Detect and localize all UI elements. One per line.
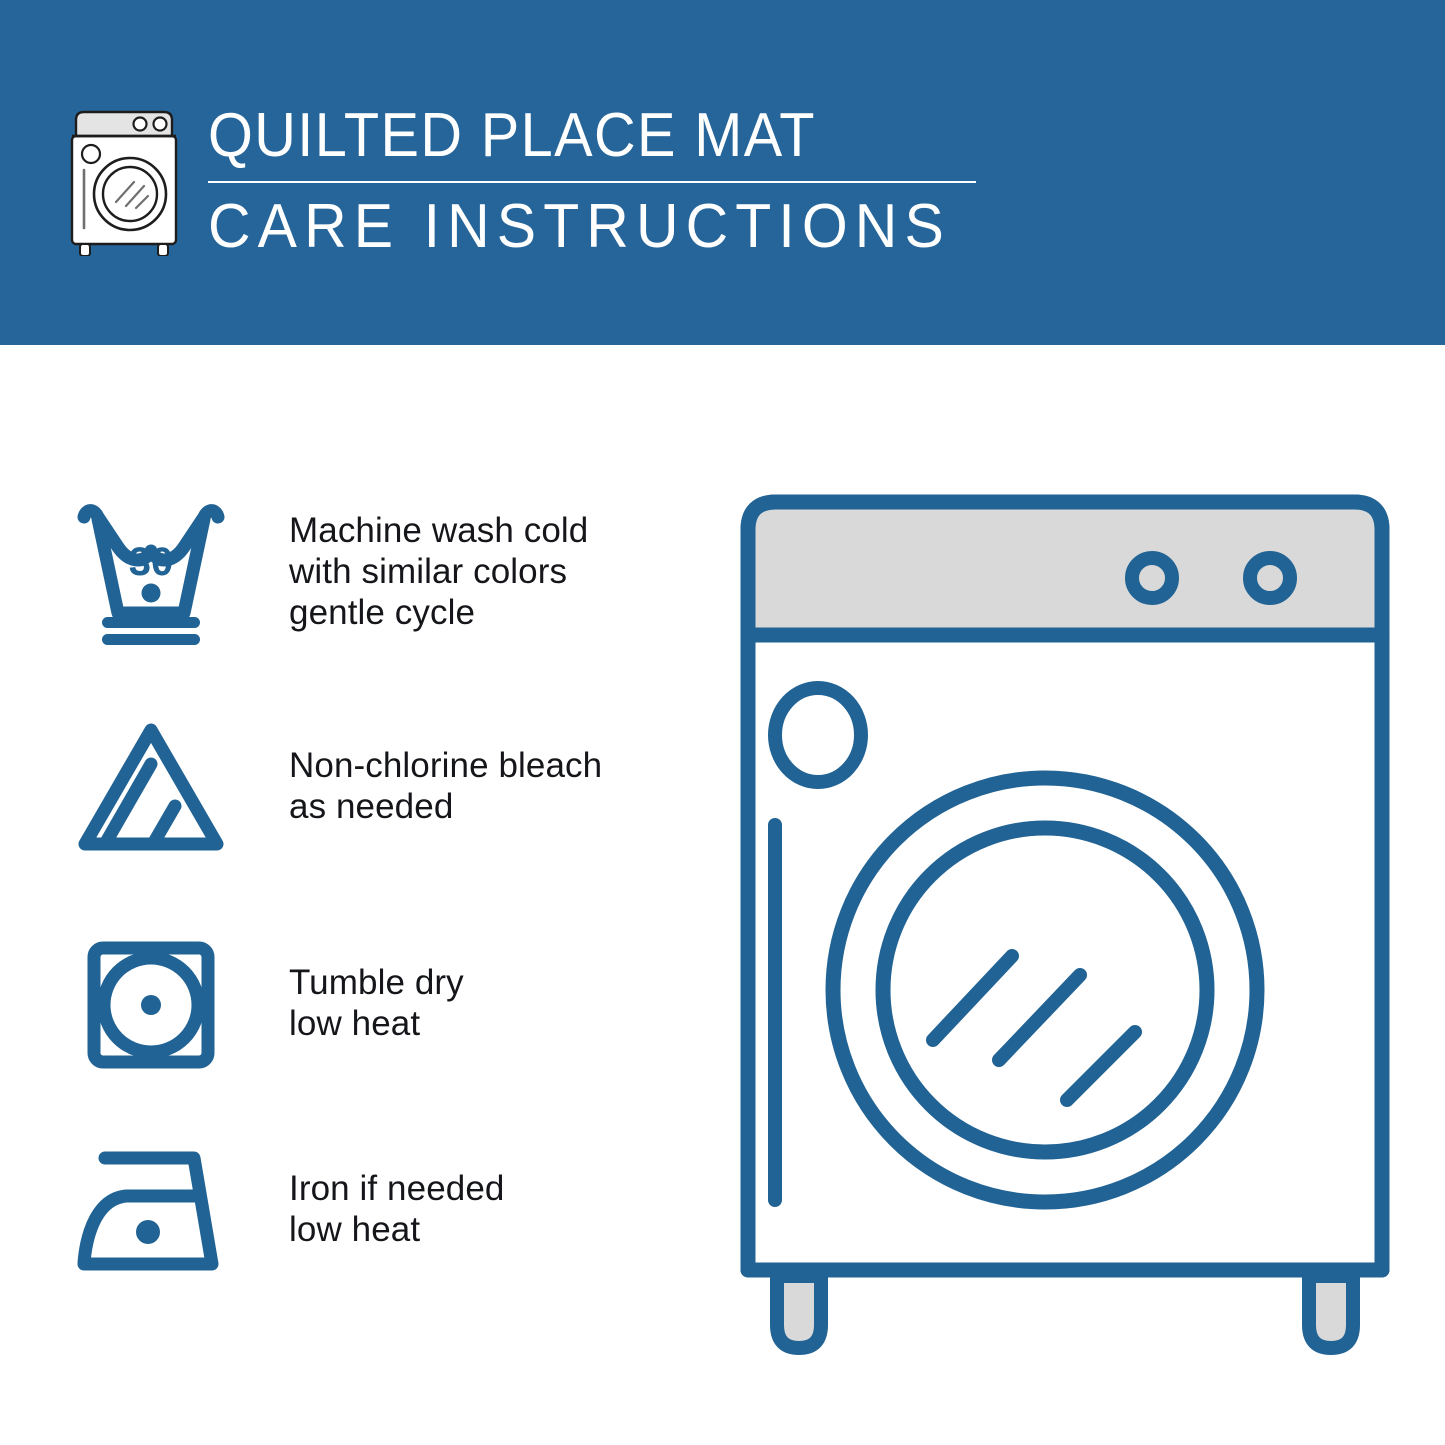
care-instruction-list: 30 Machine wash cold with similar colors…: [0, 345, 700, 1445]
title-divider: [208, 181, 976, 183]
header-text-block: QUILTED PLACE MAT CARE INSTRUCTIONS: [208, 103, 1008, 260]
header-banner: QUILTED PLACE MAT CARE INSTRUCTIONS: [0, 0, 1445, 345]
drum-door-inner: [883, 828, 1207, 1152]
care-instructions-page: QUILTED PLACE MAT CARE INSTRUCTIONS 30: [0, 0, 1445, 1445]
care-line-1: Machine wash cold: [289, 510, 689, 551]
care-text-bleach: Non-chlorine bleach as needed: [289, 745, 689, 827]
care-text-tumble-dry: Tumble dry low heat: [289, 962, 689, 1044]
page-title: QUILTED PLACE MAT: [208, 103, 952, 169]
leg-left: [777, 1276, 821, 1348]
large-washing-machine-illustration: [715, 470, 1415, 1390]
wash-dot: [142, 584, 161, 603]
gentle-bar-2: [102, 634, 200, 645]
wash-tub-30-gentle-icon: 30: [72, 495, 230, 647]
care-line-2: low heat: [289, 1003, 689, 1044]
leg-right: [1309, 1276, 1353, 1348]
care-text-machine-wash: Machine wash cold with similar colors ge…: [289, 510, 689, 633]
knob-left: [1132, 558, 1172, 598]
knob-right: [1250, 558, 1290, 598]
care-line-2: with similar colors: [289, 551, 689, 592]
care-line-1: Iron if needed: [289, 1168, 689, 1209]
wash-temp-label: 30: [129, 540, 174, 584]
care-line-2: as needed: [289, 786, 689, 827]
care-text-iron: Iron if needed low heat: [289, 1168, 689, 1250]
non-chlorine-bleach-triangle-icon: [72, 718, 230, 870]
care-line-3: gentle cycle: [289, 592, 689, 633]
iron-low-heat-icon: [72, 1138, 230, 1290]
care-line-2: low heat: [289, 1209, 689, 1250]
care-line-1: Tumble dry: [289, 962, 689, 1003]
iron-dot: [136, 1220, 160, 1244]
care-line-1: Non-chlorine bleach: [289, 745, 689, 786]
page-subtitle: CARE INSTRUCTIONS: [208, 194, 968, 260]
detergent-port: [775, 688, 861, 782]
tumble-dry-low-icon: [72, 930, 230, 1082]
tumble-dry-dot: [141, 995, 161, 1015]
gentle-bar-1: [102, 617, 200, 628]
washing-machine-icon: [62, 104, 190, 256]
